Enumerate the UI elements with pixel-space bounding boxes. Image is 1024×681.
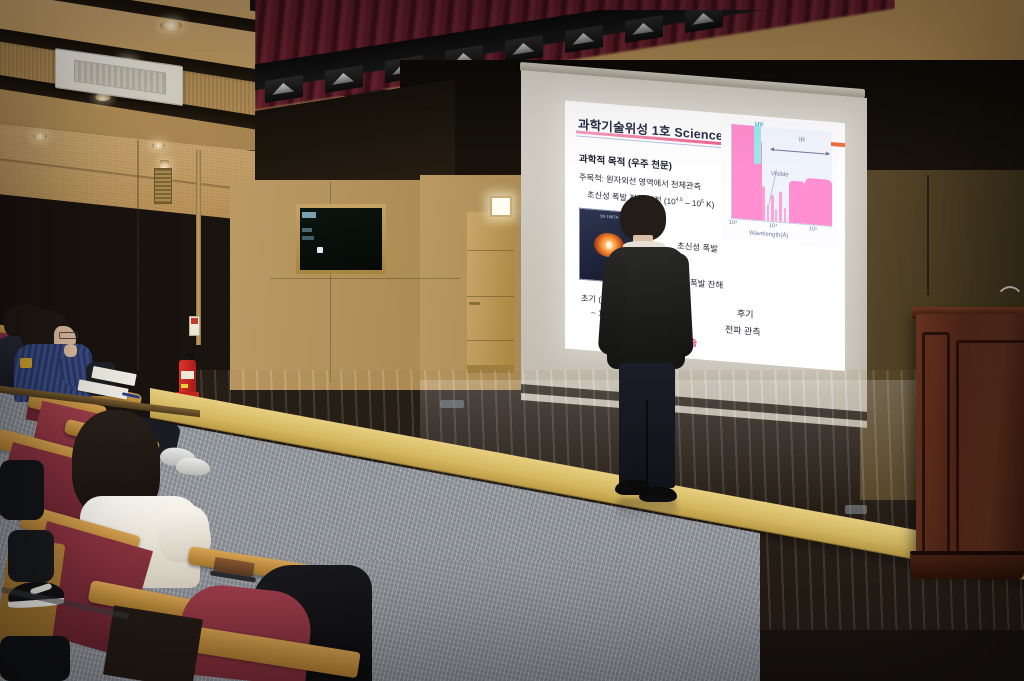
- stage-light-fixture-icon: [505, 35, 543, 63]
- slide-label-late-b: 전파 관측: [725, 322, 761, 338]
- opacity-chart: UV IR Visible 10³ 10⁴ 10⁵ Wavelength(Å): [721, 115, 839, 248]
- podium-base-trim: [910, 551, 1024, 555]
- bag: [8, 530, 54, 582]
- slide-heading: 과학적 목적 (우주 천문): [579, 151, 672, 172]
- wall-seam: [137, 140, 139, 370]
- presenter: [595, 195, 705, 515]
- stage-light-fixture-icon: [625, 15, 663, 43]
- shoe-foreground: [0, 636, 70, 681]
- stage-light-fixture-icon: [265, 75, 303, 103]
- downlight-icon: [160, 20, 182, 31]
- wall-seam: [927, 175, 929, 295]
- podium[interactable]: [916, 314, 1024, 574]
- wall-light: [490, 196, 512, 217]
- stage-light-fixture-icon: [685, 10, 723, 33]
- projection-booth-frame: [296, 204, 386, 274]
- lecture-hall-photo: 과학기술위성 1호 Science 과학적 목적 (우주 천문) 주목적: 원자…: [0, 0, 1024, 681]
- stage-light-fixture-icon: [325, 65, 363, 93]
- chart-xtick-3: 10⁵: [809, 226, 817, 233]
- chart-annotation-ir: IR: [799, 137, 805, 143]
- wall-seam: [270, 278, 460, 279]
- wall-vent: [154, 168, 172, 204]
- audience-leg-foreground: [0, 460, 44, 520]
- presenter-leg-split: [646, 400, 648, 488]
- slide-line-2-post: K): [704, 200, 714, 210]
- eyeglasses-icon: [59, 332, 78, 339]
- chart-xlabel: Wavelength(Å): [749, 230, 788, 239]
- exit-door[interactable]: [467, 212, 514, 372]
- slide-label-late-a: 후기: [737, 306, 754, 320]
- person-2-badge: [20, 358, 32, 368]
- chart-xtick-2: 10⁴: [769, 223, 777, 230]
- chart-annotation-uv: UV: [755, 122, 763, 129]
- stage-light-fixture-icon: [565, 25, 603, 53]
- podium-base: [910, 555, 1024, 579]
- chart-xtick-1: 10³: [729, 220, 737, 227]
- fire-extinguisher-sign: [189, 316, 200, 336]
- presenter-arm-right: [666, 252, 693, 357]
- presenter-floor-reflection: [617, 498, 677, 520]
